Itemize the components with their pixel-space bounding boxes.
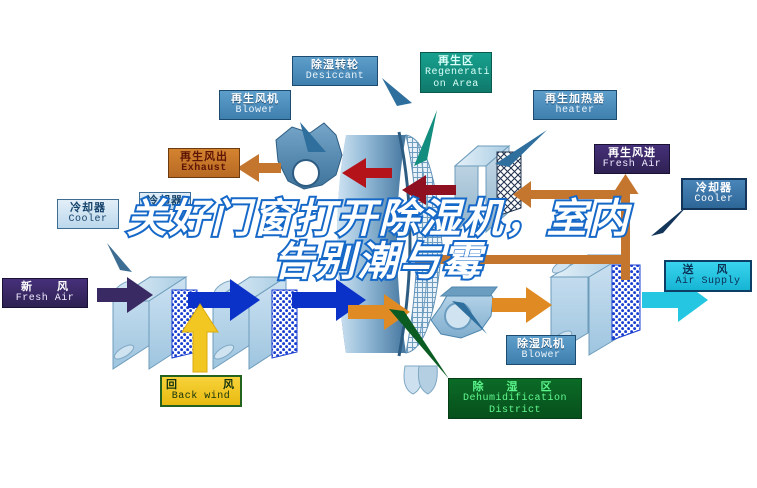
label-back-wind-en: Back wind bbox=[166, 391, 236, 402]
label-regen-heater-en: heater bbox=[538, 105, 612, 116]
label-regen-exhaust-cn: 再生风出 bbox=[173, 151, 235, 163]
cooler-unit-2 bbox=[212, 277, 297, 369]
dehum-blower-unit bbox=[431, 287, 497, 338]
label-regen-area-en-1: Regenerati bbox=[425, 67, 487, 78]
label-regen-blower[interactable]: 再生风机 Blower bbox=[219, 90, 291, 120]
label-regen-fresh-air-en: Fresh Air bbox=[599, 159, 665, 170]
label-dehum-district-en-2: District bbox=[453, 405, 577, 416]
label-back-wind-cn: 回 风 bbox=[166, 379, 236, 391]
page-title: 关好门窗打开除湿机，室内 告别潮与霉 bbox=[0, 198, 757, 284]
label-desiccant-rotor-cn: 除湿转轮 bbox=[297, 59, 373, 71]
label-desiccant-rotor-en: Desiccant bbox=[297, 71, 373, 82]
label-desiccant-rotor[interactable]: 除湿转轮 Desiccant bbox=[292, 56, 378, 86]
label-dehum-district-cn: 除 湿 区 bbox=[453, 381, 577, 393]
label-dehum-blower[interactable]: 除湿风机 Blower bbox=[506, 335, 576, 365]
title-line-1: 关好门窗打开除湿机，室内 bbox=[0, 198, 757, 241]
label-dehum-blower-cn: 除湿风机 bbox=[511, 338, 571, 350]
label-regen-heater-cn: 再生加热器 bbox=[538, 93, 612, 105]
label-dehum-district[interactable]: 除 湿 区 Dehumidification District bbox=[448, 378, 582, 419]
label-regen-heater[interactable]: 再生加热器 heater bbox=[533, 90, 617, 120]
label-regen-exhaust[interactable]: 再生风出 Exhaust bbox=[168, 148, 240, 178]
label-regen-blower-cn: 再生风机 bbox=[224, 93, 286, 105]
label-regen-area[interactable]: 再生区 Regenerati on Area bbox=[420, 52, 492, 93]
label-regen-area-en-2: on Area bbox=[425, 79, 487, 90]
label-regen-area-cn: 再生区 bbox=[425, 55, 487, 67]
arrow-exhaust bbox=[237, 154, 281, 182]
label-regen-fresh-air-cn: 再生风进 bbox=[599, 147, 665, 159]
label-dehum-blower-en: Blower bbox=[511, 350, 571, 361]
title-line-2: 告别潮与霉 bbox=[0, 241, 757, 284]
label-regen-exhaust-en: Exhaust bbox=[173, 163, 235, 174]
label-regen-fresh-air[interactable]: 再生风进 Fresh Air bbox=[594, 144, 670, 174]
arrow-dry-air-2 bbox=[492, 287, 552, 323]
label-cooler-right-cn: 冷却器 bbox=[687, 182, 741, 194]
diagram-canvas: xt bbox=[0, 0, 757, 488]
label-back-wind[interactable]: 回 风 Back wind bbox=[160, 375, 242, 407]
label-fresh-air-in-en: Fresh Air bbox=[7, 293, 83, 304]
label-dehum-district-en-1: Dehumidification bbox=[453, 393, 577, 404]
label-regen-blower-en: Blower bbox=[224, 105, 286, 116]
